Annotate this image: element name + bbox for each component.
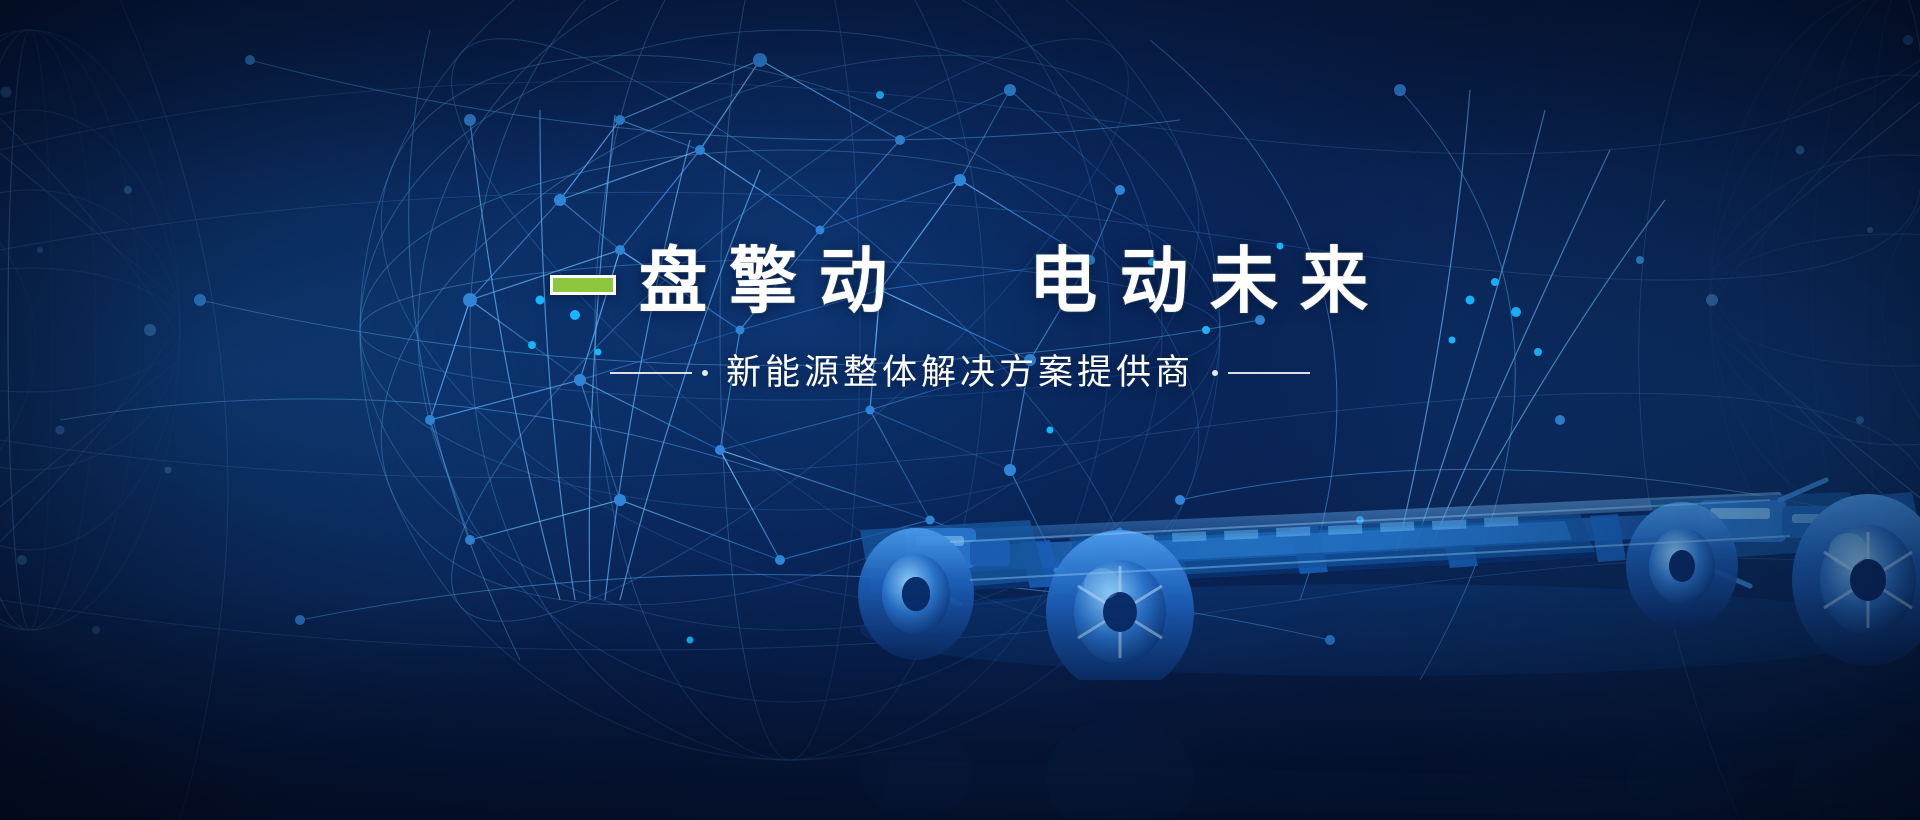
wheel-front-far — [1626, 502, 1738, 630]
ev-skateboard-chassis — [820, 380, 1920, 680]
hero-banner: 盘 擎 动 电 动 未 来 新能源整体解决方案提供商 — [0, 0, 1920, 820]
chassis-reflection — [820, 668, 1920, 818]
wheel-rear — [858, 528, 974, 660]
